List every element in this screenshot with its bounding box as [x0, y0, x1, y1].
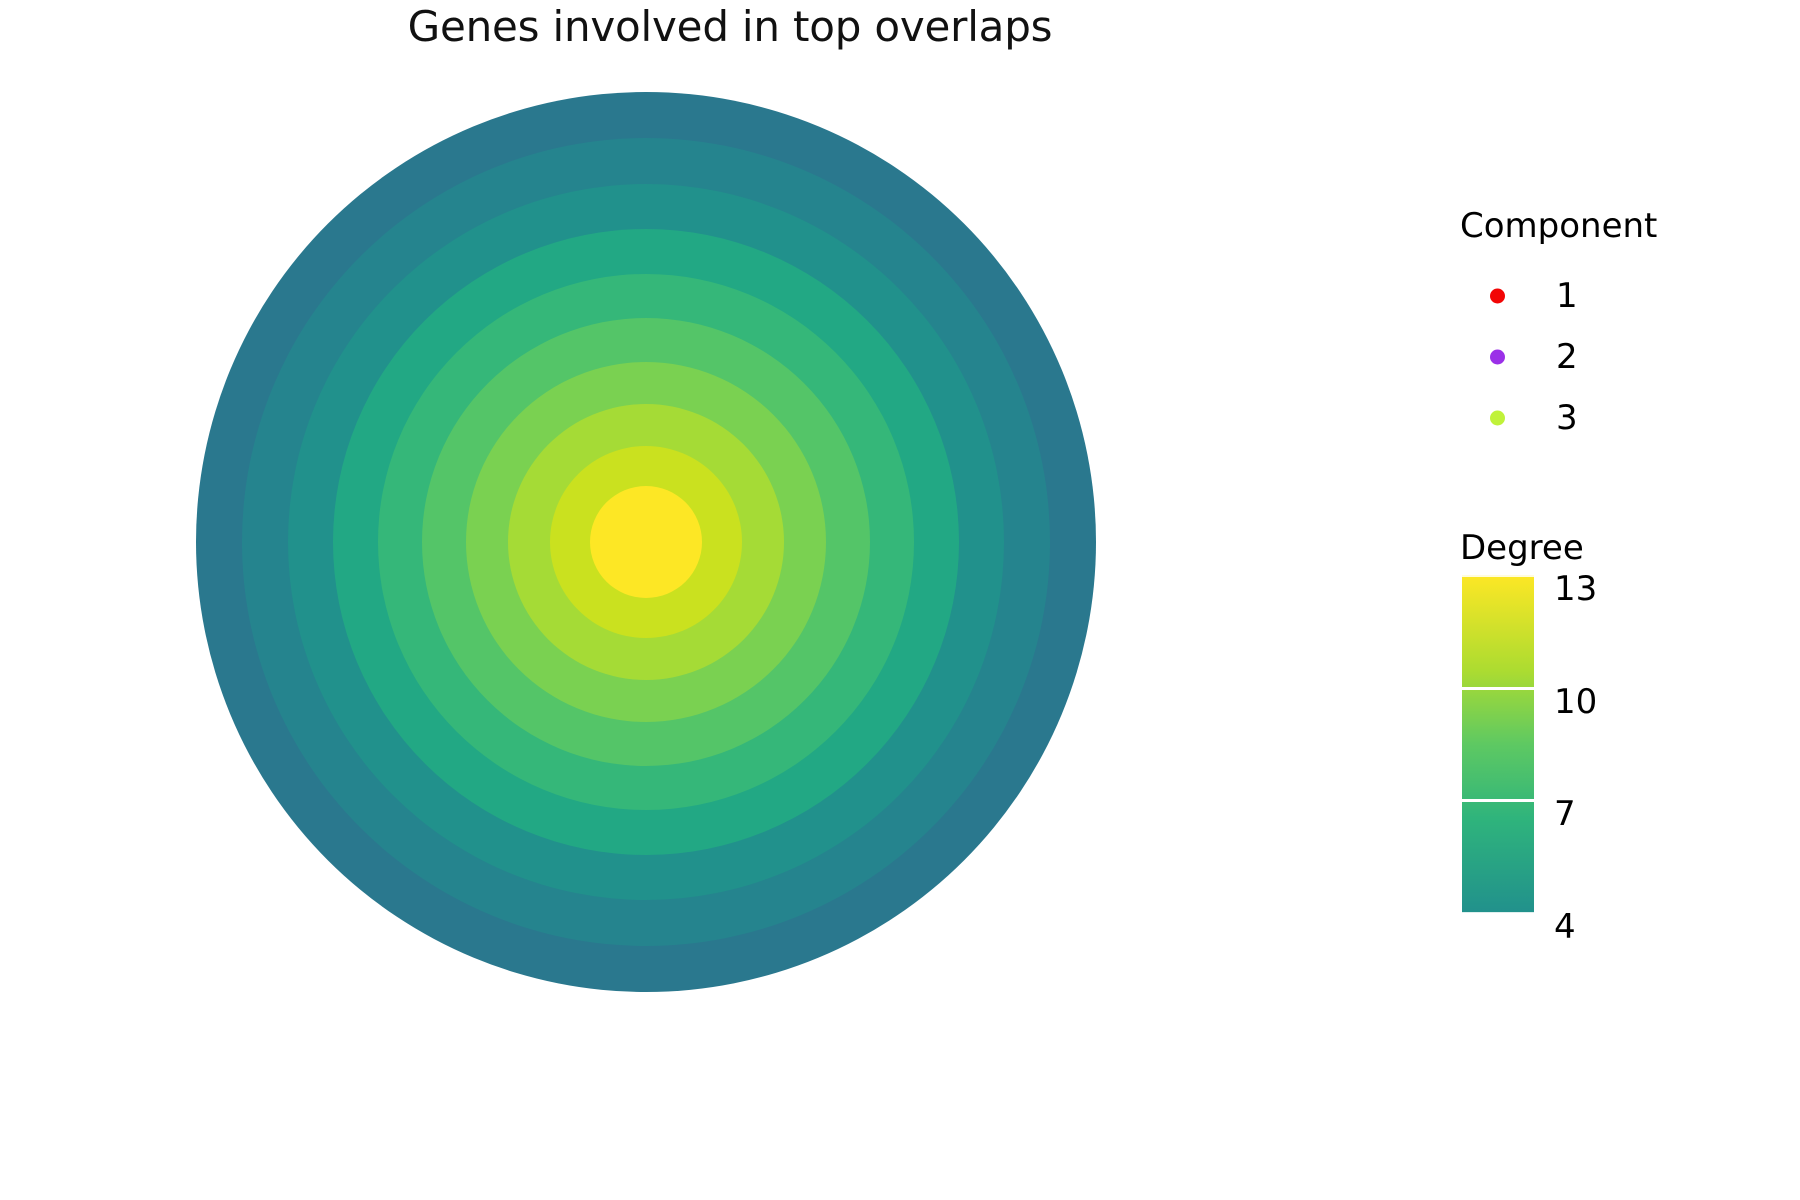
plot-panel: Genes involved in top overlaps B2MCEBPBL…	[0, 0, 1460, 1200]
colorbar-tick-mark	[1462, 912, 1534, 915]
component-legend-label: 3	[1556, 401, 1578, 435]
colorbar-tick-label: 7	[1554, 797, 1576, 831]
degree-legend-title: Degree	[1460, 528, 1584, 568]
colorbar-tick-label: 4	[1554, 910, 1576, 944]
component-swatch-icon	[1490, 350, 1505, 365]
legend-area: Component 123 Degree 131074	[1460, 0, 1800, 1200]
component-swatch-icon	[1490, 289, 1505, 304]
colorbar-tick-mark	[1462, 799, 1534, 802]
component-legend-label: 1	[1556, 279, 1578, 313]
colorbar-tick-mark	[1462, 574, 1534, 577]
page-title: Genes involved in top overlaps	[0, 2, 1460, 51]
colorbar-tick-label: 13	[1554, 572, 1597, 606]
degree-colorbar	[1462, 575, 1534, 913]
component-legend-title: Component	[1460, 206, 1657, 246]
colorbar-tick-mark	[1462, 687, 1534, 690]
component-swatch-icon	[1490, 411, 1505, 426]
degree-ring-background	[196, 92, 1096, 992]
component-legend-label: 2	[1556, 340, 1578, 374]
colorbar-tick-label: 10	[1554, 685, 1597, 719]
degree-ring	[590, 486, 702, 598]
